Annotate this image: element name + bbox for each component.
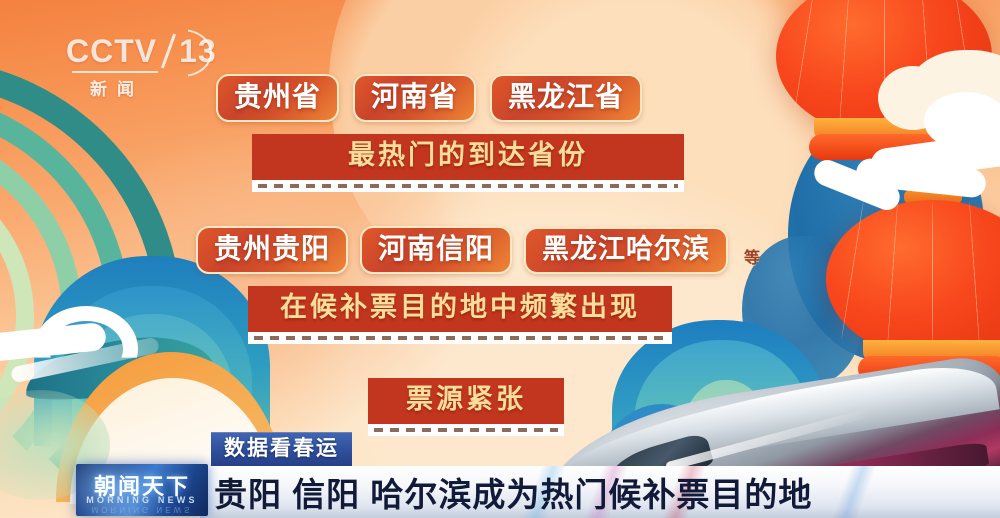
- broadcast-screen: CCTV 13 新闻 贵州省 河南省 黑龙江省 最热门的到达省份: [0, 0, 1000, 518]
- caption-banner-label: 在候补票目的地中频繁出现: [280, 292, 640, 322]
- logo-underline: [72, 71, 158, 73]
- kicker-label: 数据看春运: [224, 437, 339, 460]
- caption-banner: 票源紧张: [368, 378, 564, 424]
- province-tag: 黑龙江省: [490, 74, 642, 122]
- dashed-rule: [248, 332, 672, 344]
- program-logo: 朝闻天下 MORNING NEWS MORNING NEWS: [76, 464, 208, 516]
- city-tag-row: 贵州贵阳 河南信阳 黑龙江哈尔滨 等: [0, 226, 760, 274]
- city-tag-label: 河南信阳: [378, 234, 494, 264]
- city-tag-label: 黑龙江哈尔滨: [542, 235, 710, 264]
- caption-banner-label: 票源紧张: [406, 384, 526, 414]
- caption-banner-label: 最热门的到达省份: [348, 140, 588, 170]
- province-tag-label: 贵州省: [234, 82, 321, 112]
- province-tag-label: 河南省: [371, 82, 458, 112]
- lower-third: 数据看春运 贵阳 信阳 哈尔滨成为热门候补票目的地 朝闻天下 MORNING N…: [0, 428, 1000, 518]
- headline-text: 贵阳 信阳 哈尔滨成为热门候补票目的地: [214, 468, 812, 516]
- lantern-lower: [826, 190, 1000, 370]
- logo-slash-icon: [160, 34, 178, 68]
- city-tag: 贵州贵阳: [196, 226, 348, 274]
- caption-banner-group: 最热门的到达省份: [252, 134, 684, 192]
- city-tag-label: 贵州贵阳: [214, 234, 330, 264]
- province-tag-row: 贵州省 河南省 黑龙江省: [0, 74, 760, 122]
- caption-banner: 最热门的到达省份: [252, 134, 684, 180]
- program-title-en: MORNING NEWS: [76, 495, 208, 505]
- channel-logo-row: CCTV 13: [66, 34, 217, 68]
- province-tag: 贵州省: [216, 74, 339, 122]
- kicker-badge: 数据看春运: [211, 432, 352, 466]
- city-tag: 黑龙江哈尔滨: [524, 227, 728, 274]
- infographic-panel: 贵州省 河南省 黑龙江省 最热门的到达省份 贵州贵阳 河南信阳: [0, 74, 760, 436]
- city-tag-suffix: 等: [744, 244, 760, 268]
- program-title-en-reflection: MORNING NEWS: [76, 505, 208, 514]
- caption-banner-group: 在候补票目的地中频繁出现: [248, 286, 672, 344]
- city-tag: 河南信阳: [360, 226, 512, 274]
- province-tag: 河南省: [353, 74, 476, 122]
- province-tag-label: 黑龙江省: [508, 82, 624, 112]
- caption-banner-group: 票源紧张: [368, 378, 564, 436]
- headline-bar: 贵阳 信阳 哈尔滨成为热门候补票目的地: [200, 466, 1000, 518]
- dashed-rule: [252, 180, 684, 192]
- caption-banner: 在候补票目的地中频繁出现: [248, 286, 672, 332]
- channel-network-label: CCTV: [66, 35, 157, 67]
